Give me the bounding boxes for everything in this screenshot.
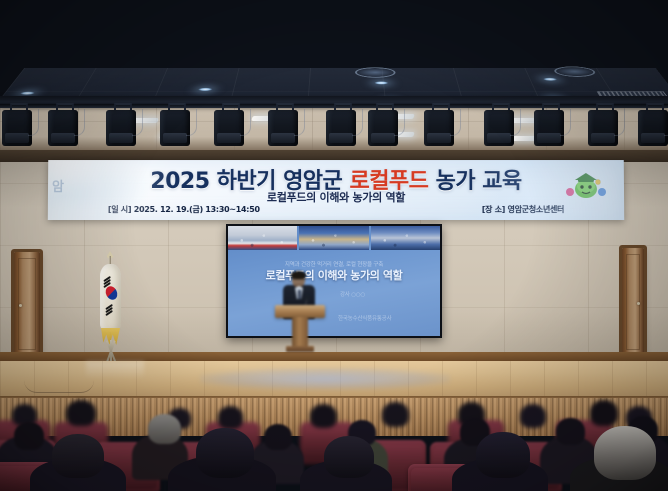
door-knob-icon [19, 304, 22, 307]
slide-title: 로컬푸드의 이해와 농가의 역할 [228, 267, 440, 283]
slide-photo [228, 226, 297, 250]
audience-head [218, 406, 243, 429]
downlight-icon [374, 81, 388, 84]
podium [275, 305, 325, 353]
projected-slide: 지역과 건강한 먹거리 연결, 로컬 현장을 구축 로컬푸드의 이해와 농가의 … [228, 226, 440, 336]
slide-photo [371, 226, 440, 250]
slide-photo-strip [228, 226, 440, 250]
korean-national-flag [92, 256, 130, 362]
presenter-tie [298, 290, 301, 299]
banner-place: [장 소] 영암군청소년센터 [482, 204, 564, 215]
audience-head [382, 402, 409, 427]
slide-affiliation-line: 한국농수산식품유통공사 [338, 314, 391, 322]
audience-head [476, 432, 530, 478]
audience-head [520, 404, 546, 428]
projection-screen: 지역과 건강한 먹거리 연결, 로컬 현장을 구축 로컬푸드의 이해와 농가의 … [226, 224, 442, 338]
podium-stem [292, 317, 308, 347]
banner-place-value: 영암군청소년센터 [508, 205, 565, 214]
downlight-icon [542, 78, 557, 81]
audience-area [0, 386, 668, 491]
banner-date-value: 2025. 12. 19.(금) 13:30~14:50 [134, 205, 260, 214]
audience-head [556, 418, 585, 445]
banner-date-label: [일 시] [108, 205, 131, 214]
podium-base [286, 346, 314, 352]
audience-head [148, 414, 181, 444]
presenter-hair [291, 271, 306, 279]
door-knob-icon [637, 302, 640, 305]
floor-reflection [86, 361, 144, 379]
audience-head [52, 434, 104, 478]
flag-tripod-base [97, 340, 125, 362]
audience-head [14, 422, 44, 450]
audience-head [594, 426, 656, 480]
county-mascot-logo-icon [562, 168, 610, 204]
audience-head [66, 400, 96, 426]
event-banner: 암 2025 하반기 영암군 로컬푸드 농가 교육 로컬푸드의 이해와 농가의 … [48, 160, 624, 220]
banner-meta: [일 시] 2025. 12. 19.(금) 13:30~14:50 [장 소]… [108, 204, 564, 215]
audience-head [324, 436, 374, 478]
audience-head [196, 428, 254, 478]
auditorium-photo: 암 2025 하반기 영암군 로컬푸드 농가 교육 로컬푸드의 이해와 농가의 … [0, 0, 668, 491]
banner-subtitle: 로컬푸드의 이해와 농가의 역할 [48, 189, 624, 205]
audience-head [264, 424, 292, 450]
slide-presenter-line: 강사 ○○○ [340, 290, 365, 298]
banner-place-label: [장 소] [482, 205, 505, 214]
audience-head [590, 400, 618, 426]
audience-head [310, 404, 337, 428]
ring-ceiling-light-icon [355, 67, 396, 77]
side-door-right[interactable] [622, 248, 644, 356]
side-door-left[interactable] [14, 252, 40, 356]
banner-date: [일 시] 2025. 12. 19.(금) 13:30~14:50 [108, 204, 260, 215]
slide-photo [299, 226, 368, 250]
